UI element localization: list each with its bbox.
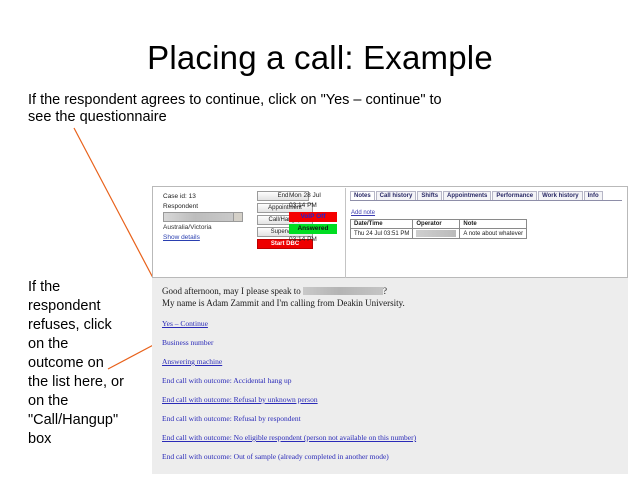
answered-status-badge: Answered — [289, 224, 337, 234]
script-line-1: Good afternoon, may I please speak to ? — [162, 286, 618, 298]
cell-operator — [413, 229, 460, 239]
show-details-link[interactable]: Show details — [163, 234, 200, 241]
notes-table: Date/Time Operator Note Thu 24 Jul 03:51… — [350, 219, 527, 239]
tab-performance[interactable]: Performance — [492, 191, 537, 200]
arrow-to-script — [74, 128, 162, 295]
tab-appointments[interactable]: Appointments — [443, 191, 491, 200]
script-line-2: My name is Adam Zammit and I'm calling f… — [162, 298, 618, 310]
voip-status-badge: VoIP Off — [289, 212, 337, 222]
outcome-yes-continue[interactable]: Yes – Continue — [162, 319, 618, 328]
outcome-refusal-unknown-person[interactable]: End call with outcome: Refusal by unknow… — [162, 395, 618, 404]
outcome-no-eligible-respondent[interactable]: End call with outcome: No eligible respo… — [162, 433, 618, 442]
right-tab-panel: Notes Call history Shifts Appointments P… — [345, 188, 626, 278]
respondent-select[interactable] — [163, 212, 243, 222]
status-time-top: 03:14 PM — [289, 201, 343, 211]
col-note: Note — [460, 220, 527, 229]
respondent-label: Respondent — [163, 202, 255, 212]
outcome-out-of-sample[interactable]: End call with outcome: Out of sample (al… — [162, 452, 618, 461]
col-datetime: Date/Time — [351, 220, 413, 229]
outcome-links-list: Yes – Continue Business number Answering… — [162, 319, 618, 461]
tab-bar: Notes Call history Shifts Appointments P… — [350, 191, 622, 201]
page-title: Placing a call: Example — [0, 38, 640, 78]
outcome-answering-machine[interactable]: Answering machine — [162, 357, 618, 366]
add-note-link[interactable]: Add note — [351, 210, 375, 216]
tab-shifts[interactable]: Shifts — [417, 191, 442, 200]
outcome-business-number[interactable]: Business number — [162, 338, 618, 347]
callout-refusal-text: If the respondent refuses, click on the … — [28, 278, 124, 449]
tab-work-history[interactable]: Work history — [538, 191, 583, 200]
case-id-label: Case id: 13 — [163, 192, 255, 202]
callout-continue-text: If the respondent agrees to continue, cl… — [28, 92, 458, 126]
call-script-area: Good afternoon, may I please speak to ? … — [152, 278, 628, 474]
tab-info[interactable]: Info — [584, 191, 603, 200]
script-greeting: Good afternoon, may I please speak to — [162, 286, 303, 296]
tab-call-history[interactable]: Call history — [376, 191, 417, 200]
status-date: Mon 28 Jul — [289, 191, 343, 201]
redacted-operator — [416, 230, 456, 237]
table-header-row: Date/Time Operator Note — [351, 220, 527, 229]
status-time-bottom: 03:14 PM — [289, 235, 343, 245]
embedded-app-screenshot: Case id: 13 Respondent Australia/Victori… — [152, 186, 628, 474]
case-info-block: Case id: 13 Respondent Australia/Victori… — [163, 192, 255, 242]
timezone-label: Australia/Victoria — [163, 223, 255, 233]
redacted-respondent-name — [303, 287, 383, 295]
outcome-refusal-by-respondent[interactable]: End call with outcome: Refusal by respon… — [162, 414, 618, 423]
outcome-accidental-hang-up[interactable]: End call with outcome: Accidental hang u… — [162, 376, 618, 385]
col-operator: Operator — [413, 220, 460, 229]
cell-note: A note about whatever — [460, 229, 527, 239]
app-header-panel: Case id: 13 Respondent Australia/Victori… — [152, 186, 628, 278]
cell-datetime: Thu 24 Jul 03:51 PM — [351, 229, 413, 239]
call-status-column: Mon 28 Jul 03:14 PM VoIP Off Answered 03… — [289, 191, 343, 245]
script-question-mark: ? — [383, 286, 387, 296]
tab-notes[interactable]: Notes — [350, 191, 375, 200]
table-row: Thu 24 Jul 03:51 PM A note about whateve… — [351, 229, 527, 239]
